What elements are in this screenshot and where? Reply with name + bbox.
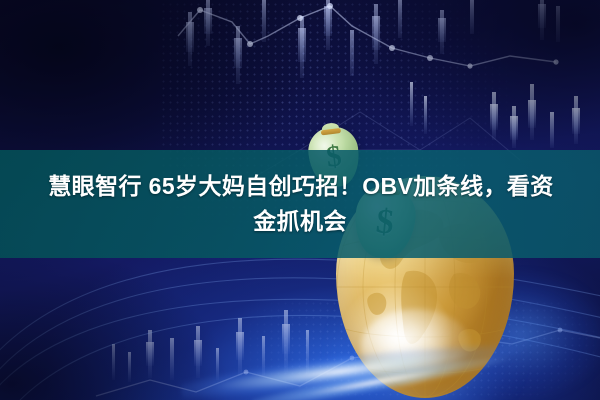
title-line-2: 金抓机会	[253, 204, 347, 239]
money-bag-tie	[321, 128, 341, 135]
title-line-1: 慧眼智行 65岁大妈自创巧招！OBV加条线，看资	[46, 169, 553, 204]
title-overlay-band: 慧眼智行 65岁大妈自创巧招！OBV加条线，看资 金抓机会	[0, 150, 600, 258]
banner-image: $ $ 慧眼智行 65岁大妈自创巧招！OBV加条线，看资 金抓机会	[0, 0, 600, 400]
